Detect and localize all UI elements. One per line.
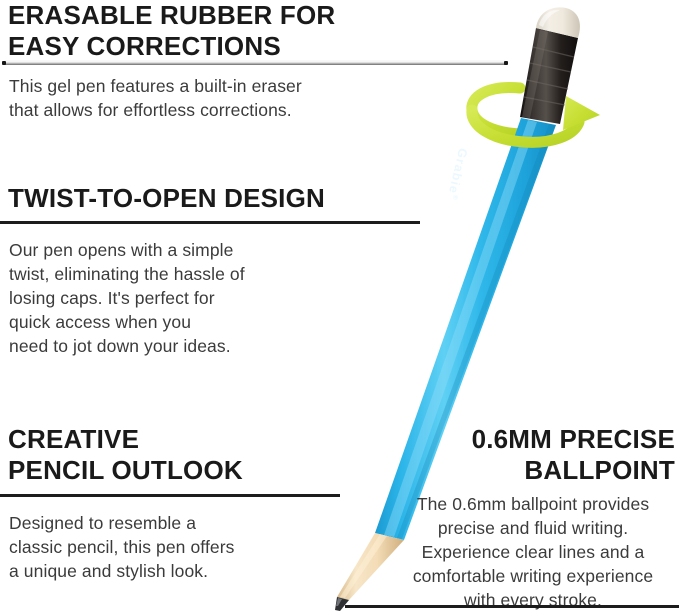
feature-twist-to-open: TWIST-TO-OPEN DESIGN (8, 183, 438, 214)
heading-line: EASY CORRECTIONS (8, 31, 528, 62)
heading-line: TWIST-TO-OPEN DESIGN (8, 183, 438, 214)
divider-erasable-rubber (4, 60, 506, 65)
feature-body-precise-ballpoint: The 0.6mm ballpoint provides precise and… (389, 492, 677, 612)
feature-precise-ballpoint: 0.6MM PRECISE BALLPOINT (399, 424, 675, 486)
feature-heading-creative-pencil-outlook: CREATIVE PENCIL OUTLOOK (8, 424, 348, 486)
feature-body-erasable-rubber: This gel pen features a built-in eraser … (9, 74, 529, 122)
body-line: need to jot down your ideas. (9, 334, 409, 358)
body-line: that allows for effortless corrections. (9, 98, 529, 122)
body-line: comfortable writing experience (389, 564, 677, 588)
body-line: losing caps. It's perfect for (9, 286, 409, 310)
eraser-tip-icon (536, 7, 580, 38)
divider-twist-to-open (0, 221, 420, 224)
heading-line: BALLPOINT (399, 455, 675, 486)
brand-registered-mark: ® (451, 194, 459, 201)
divider-creative-pencil-outlook (0, 494, 340, 497)
heading-line: CREATIVE (8, 424, 348, 455)
body-line: with every stroke. (389, 588, 677, 612)
heading-line: 0.6MM PRECISE (399, 424, 675, 455)
feature-heading-erasable-rubber: ERASABLE RUBBER FOR EASY CORRECTIONS (8, 0, 528, 62)
brand-imprint: Grabie® (445, 147, 470, 201)
body-line: precise and fluid writing. (389, 516, 677, 540)
body-line: quick access when you (9, 310, 409, 334)
feature-body-creative-pencil-outlook: Designed to resemble a classic pencil, t… (9, 511, 339, 583)
body-line: Designed to resemble a (9, 511, 339, 535)
body-line: twist, eliminating the hassle of (9, 262, 409, 286)
feature-body-twist-to-open: Our pen opens with a simple twist, elimi… (9, 238, 409, 358)
body-line: classic pencil, this pen offers (9, 535, 339, 559)
feature-heading-twist-to-open: TWIST-TO-OPEN DESIGN (8, 183, 438, 214)
brand-name: Grabie (446, 147, 470, 196)
body-line: This gel pen features a built-in eraser (9, 74, 529, 98)
heading-line: ERASABLE RUBBER FOR (8, 0, 528, 31)
heading-line: PENCIL OUTLOOK (8, 455, 348, 486)
infographic-canvas: Grabie® ERASABLE RUBBER FOR EASY CORRECT… (0, 0, 679, 613)
feature-creative-pencil-outlook: CREATIVE PENCIL OUTLOOK (8, 424, 348, 486)
ballpoint-tip-icon (335, 597, 349, 611)
body-line: The 0.6mm ballpoint provides (389, 492, 677, 516)
divider-precise-ballpoint-bottom (345, 605, 679, 608)
body-line: Experience clear lines and a (389, 540, 677, 564)
body-line: Our pen opens with a simple (9, 238, 409, 262)
feature-erasable-rubber: ERASABLE RUBBER FOR EASY CORRECTIONS (8, 0, 528, 62)
feature-heading-precise-ballpoint: 0.6MM PRECISE BALLPOINT (399, 424, 675, 486)
body-line: a unique and stylish look. (9, 559, 339, 583)
